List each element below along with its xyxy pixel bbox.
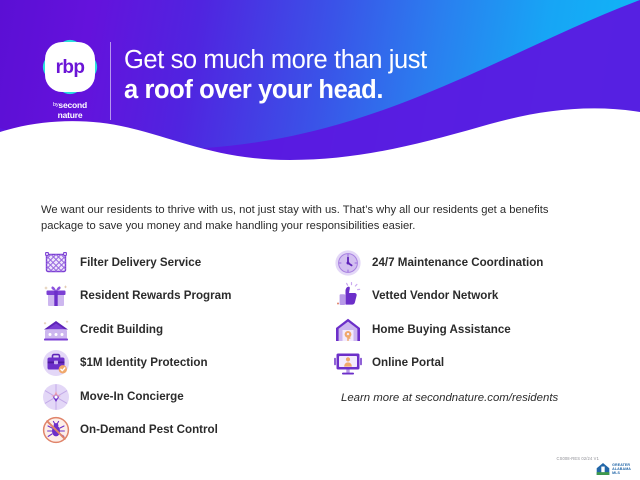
benefit-label: Home Buying Assistance [372,323,511,337]
benefit-item-vetted-vendor-network: Vetted Vendor Network [333,280,601,314]
benefit-label: Move-In Concierge [80,390,184,404]
benefit-item-resident-rewards-program: Resident Rewards Program [41,280,331,314]
mls-line-3: MLS [612,471,631,475]
rbp-brand-lockup: rbp bysecond nature [34,36,106,122]
headline-line-1: Get so much more than just [124,45,544,75]
benefit-label: Vetted Vendor Network [372,289,498,303]
benefit-label: 24/7 Maintenance Coordination [372,256,543,270]
brand-sub-line1: second [58,100,87,110]
benefit-label: Credit Building [80,323,163,337]
benefit-item-online-portal: Online Portal [333,347,601,381]
gift-box-icon [41,281,71,311]
rbp-logo-icon: rbp [39,36,101,98]
hero-headline: Get so much more than just a roof over y… [124,45,544,106]
headline-line-2: a roof over your head. [124,75,544,106]
marketing-flyer: rbp bysecond nature Get so much more tha… [0,0,640,480]
benefit-item-filter-delivery-service: Filter Delivery Service [41,246,331,280]
benefit-label: Online Portal [372,356,444,370]
air-filter-icon [41,248,71,278]
benefit-label: $1M Identity Protection [80,356,208,370]
benefit-item-identity-protection: $1M Identity Protection [41,347,331,381]
brand-divider [110,42,111,120]
brand-sub-line2: nature [34,111,106,121]
mls-text-block: GREATER ALABAMA MLS [612,463,631,475]
mls-house-icon [596,462,610,476]
clock-icon [333,248,363,278]
intro-paragraph: We want our residents to thrive with us,… [41,203,586,234]
benefit-label: On-Demand Pest Control [80,423,218,437]
logo-rbp-text: rbp [45,42,95,92]
no-pest-icon [41,415,71,445]
benefit-item-pest-control: On-Demand Pest Control [41,414,331,448]
benefit-label: Resident Rewards Program [80,289,231,303]
benefit-label: Filter Delivery Service [80,256,201,270]
monitor-icon [333,348,363,378]
benefit-item-maintenance-coordination: 24/7 Maintenance Coordination [333,246,601,280]
briefcase-shield-icon [41,348,71,378]
benefits-right-column: 24/7 Maintenance Coordination Vetted Ven… [333,246,601,406]
house-key-icon [333,315,363,345]
benefit-item-move-in-concierge: Move-In Concierge [41,380,331,414]
bank-building-icon [41,315,71,345]
thumbs-up-icon [333,281,363,311]
benefit-item-credit-building: Credit Building [41,313,331,347]
benefits-left-column: Filter Delivery Service Resident Rewards… [41,246,331,447]
brand-sub-lockup: bysecond nature [34,101,106,120]
benefit-item-home-buying-assistance: Home Buying Assistance [333,313,601,347]
compass-icon [41,382,71,412]
document-code: CS008-RES 02/24 V1 [556,456,599,461]
learn-more-text: Learn more at secondnature.com/residents [341,391,601,406]
mls-badge: GREATER ALABAMA MLS [596,462,631,476]
hero-banner: rbp bysecond nature Get so much more tha… [0,0,640,185]
